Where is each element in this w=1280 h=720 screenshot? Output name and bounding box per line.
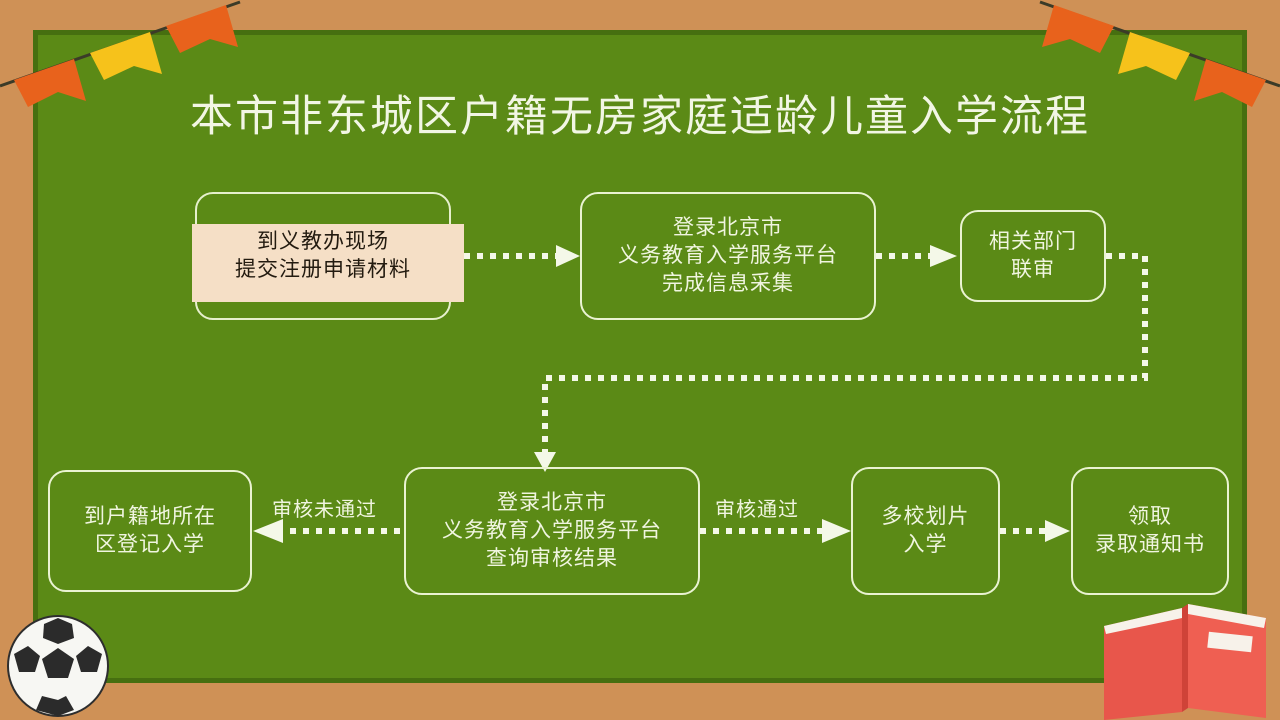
flow-node-collect-info[interactable]: 登录北京市 义务教育入学服务平台 完成信息采集 [580, 192, 876, 320]
soccer-ball-icon [6, 614, 110, 718]
flow-node-label: 到户籍地所在 区登记入学 [84, 503, 216, 558]
flow-node-label: 相关部门 联审 [989, 228, 1077, 283]
flow-node-multi-school-zoning[interactable]: 多校划片 入学 [851, 467, 1000, 595]
flow-node-joint-review[interactable]: 相关部门 联审 [960, 210, 1106, 302]
pennant-banner-icon-left [0, 0, 250, 110]
slide-canvas: 本市非东城区户籍无房家庭适龄儿童入学流程 到义教办现场 提交注册申请材料 登录北… [0, 0, 1280, 720]
flow-node-label: 领取 录取通知书 [1095, 503, 1205, 558]
open-book-icon [1090, 600, 1280, 720]
flow-node-receive-admission-letter[interactable]: 领取 录取通知书 [1071, 467, 1229, 595]
flow-node-hukou-registration[interactable]: 到户籍地所在 区登记入学 [48, 470, 252, 592]
flow-node-label: 到义教办现场 提交注册申请材料 [235, 228, 411, 283]
edge-label-fail: 审核未通过 [272, 493, 377, 522]
pennant-banner-icon-right [1030, 0, 1280, 110]
flow-node-check-result[interactable]: 登录北京市 义务教育入学服务平台 查询审核结果 [404, 467, 700, 595]
flow-node-register-onsite[interactable]: 到义教办现场 提交注册申请材料 [195, 192, 451, 320]
edge-label-pass: 审核通过 [715, 493, 799, 522]
flow-node-label: 登录北京市 义务教育入学服务平台 查询审核结果 [442, 489, 662, 572]
flow-node-label: 登录北京市 义务教育入学服务平台 完成信息采集 [618, 214, 838, 297]
flow-node-label: 多校划片 入学 [882, 503, 970, 558]
